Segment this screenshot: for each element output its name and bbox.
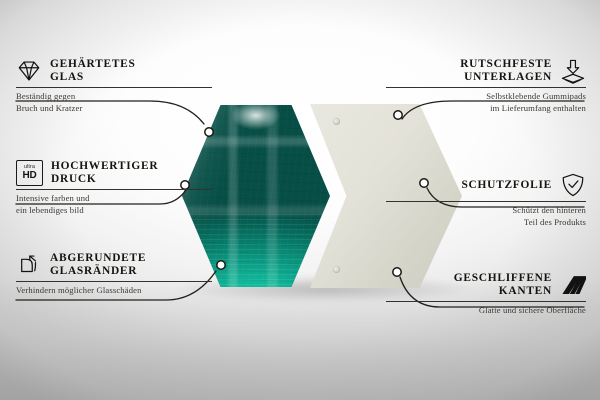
feature-subtitle-line1: Intensive farben und bbox=[16, 193, 212, 205]
feature-divider bbox=[16, 189, 212, 190]
feature-divider bbox=[386, 87, 586, 88]
feature-title-line1: GESCHLIFFENE bbox=[454, 272, 552, 285]
feature-gehaertetes-glas: GEHÄRTETES GLAS Beständig gegen Bruch un… bbox=[16, 58, 212, 115]
feature-title-line2: UNTERLAGEN bbox=[464, 71, 552, 84]
feature-divider bbox=[16, 281, 212, 282]
feature-subtitle-line2: Teil des Produkts bbox=[386, 217, 586, 229]
feature-title-line2: DRUCK bbox=[51, 173, 158, 186]
feature-subtitle-line2: im Lieferumfang enthalten bbox=[386, 103, 586, 115]
ground-edges-icon bbox=[560, 272, 586, 298]
anti-slip-pad-icon bbox=[560, 58, 586, 84]
feature-subtitle-line1: Selbstklebende Gummipads bbox=[386, 91, 586, 103]
diamond-icon bbox=[16, 58, 42, 84]
badge-bottom-label: HD bbox=[22, 171, 36, 181]
feature-geschliffene-kanten: GESCHLIFFENE KANTEN Glatte und sichere O… bbox=[386, 272, 586, 317]
feature-title-line1: ABGERUNDETE bbox=[50, 252, 146, 265]
infographic-canvas: GEHÄRTETES GLAS Beständig gegen Bruch un… bbox=[0, 0, 600, 400]
rounded-edge-icon bbox=[16, 252, 42, 278]
feature-subtitle-line1: Beständig gegen bbox=[16, 91, 212, 103]
feature-divider bbox=[386, 301, 586, 302]
feature-subtitle-line1: Schützt den hinteren bbox=[386, 205, 586, 217]
feature-title-line1: GEHÄRTETES bbox=[50, 58, 136, 71]
feature-hochwertiger-druck: ultra HD HOCHWERTIGER DRUCK Intensive fa… bbox=[16, 160, 212, 217]
feature-title-line2: GLAS bbox=[50, 71, 136, 84]
ultra-hd-badge-icon: ultra HD bbox=[16, 160, 43, 186]
feature-rutschfeste-unterlagen: RUTSCHFESTE UNTERLAGEN Selbstklebende Gu… bbox=[386, 58, 586, 115]
feature-subtitle-line1: Glatte und sichere Oberfläche bbox=[386, 305, 586, 317]
feature-title-line2: KANTEN bbox=[499, 285, 552, 298]
feature-divider bbox=[16, 87, 212, 88]
feature-abgerundete-glasraender: ABGERUNDETE GLASRÄNDER Verhindern möglic… bbox=[16, 252, 212, 297]
feature-schutzfolie: SCHUTZFOLIE Schützt den hinteren Teil de… bbox=[386, 172, 586, 229]
feature-title-line1: HOCHWERTIGER bbox=[51, 160, 158, 173]
feature-title-line1: RUTSCHFESTE bbox=[460, 58, 552, 71]
feature-title-line2: GLASRÄNDER bbox=[50, 265, 146, 278]
feature-subtitle-line1: Verhindern möglicher Glasschäden bbox=[16, 285, 212, 297]
connector-dot-glas bbox=[205, 128, 213, 136]
feature-title-line1: SCHUTZFOLIE bbox=[461, 179, 552, 192]
feature-divider bbox=[386, 201, 586, 202]
feature-subtitle-line2: Bruch und Kratzer bbox=[16, 103, 212, 115]
shield-check-icon bbox=[560, 172, 586, 198]
connector-dot-raender bbox=[217, 261, 225, 269]
feature-subtitle-line2: ein lebendiges bild bbox=[16, 205, 212, 217]
